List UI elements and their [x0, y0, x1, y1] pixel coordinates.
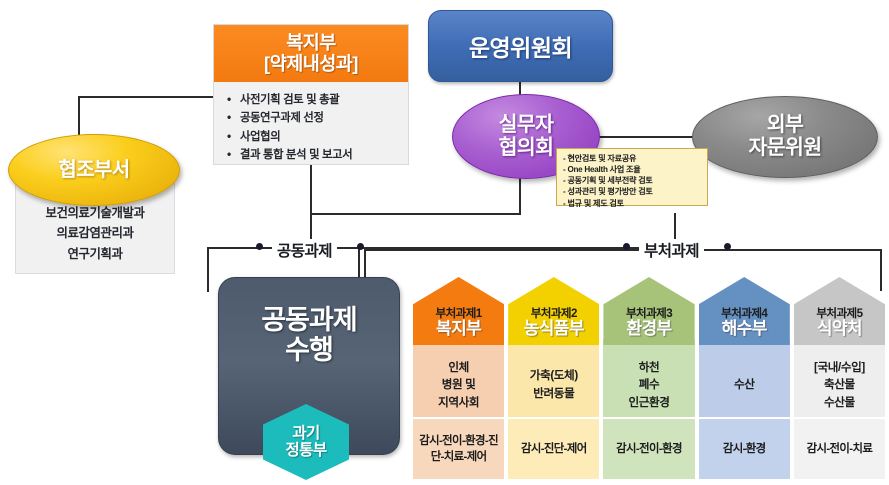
mohw-card-header: 복지부 [약제내성과] — [214, 25, 408, 82]
connector-worker-down — [519, 178, 521, 214]
department-name: 식약처 — [817, 320, 862, 339]
mohw-duty-item: 사업협의 — [227, 128, 400, 146]
department-scope-1: 인체 병원 및 지역사회 — [413, 339, 504, 417]
department-hexagon-1[interactable]: 부처과제1 복지부 — [413, 277, 504, 345]
department-hexagon-3[interactable]: 부처과제3 환경부 — [603, 277, 694, 345]
joint-task-line2: 수행 — [285, 335, 333, 365]
department-stages-1: 감시-전이-환경-진단-치료-제어 — [413, 419, 504, 479]
department-scope-line: 반려동물 — [533, 385, 574, 403]
department-hexagon-4[interactable]: 부처과제4 해수부 — [699, 277, 790, 345]
branch-label-dept-task: 부처과제 — [639, 239, 704, 261]
external-advisor-line1: 외부 — [767, 114, 804, 137]
department-column-1[interactable]: 인체 병원 및 지역사회 감시-전이-환경-진단-치료-제어 부처과제1 복지부 — [413, 277, 504, 479]
department-stages-text: 감시-환경 — [723, 441, 766, 457]
department-scope-line: 수산물 — [824, 394, 855, 412]
msit-line2: 정통부 — [286, 442, 327, 459]
department-stages-5: 감시-전이-치료 — [794, 419, 885, 479]
department-hexagon-5[interactable]: 부처과제5 식약처 — [794, 277, 885, 345]
department-name: 복지부 — [436, 320, 481, 339]
department-scope-line: 폐수 — [639, 376, 660, 394]
mohw-duty-item: 사전기획 검토 및 총괄 — [227, 91, 400, 109]
branch-dot-dept-left — [623, 243, 630, 250]
joint-task-line1: 공동과제 — [261, 305, 356, 335]
department-stages-text: 감시-전이-환경 — [616, 441, 682, 457]
department-scope-line: [국내/수입] — [814, 359, 865, 377]
department-stages-2: 감시-진단-제어 — [508, 419, 599, 479]
department-scope-line: 가축(도체) — [530, 367, 578, 385]
department-column-3[interactable]: 하천 폐수 인근환경 감시-전이-환경 부처과제3 환경부 — [603, 277, 694, 479]
department-name: 해수부 — [722, 320, 767, 339]
mohw-title-line2: [약제내성과] — [264, 54, 358, 75]
department-column-4[interactable]: 수산 감시-환경 부처과제4 해수부 — [699, 277, 790, 479]
worker-council-line1: 실무자 — [499, 114, 554, 137]
worker-council-line2: 협의회 — [499, 137, 554, 160]
connector-mohw-to-coop-h — [78, 96, 214, 98]
branch-label-joint-task: 공동과제 — [272, 239, 337, 261]
department-stages-text: 감시-전이-환경-진단-치료-제어 — [415, 433, 502, 465]
department-name: 농식품부 — [524, 320, 584, 339]
branch-dot-dept-right — [724, 243, 731, 250]
department-scope-line: 축산물 — [824, 376, 855, 394]
department-scope-line: 인근환경 — [628, 394, 669, 412]
steering-committee-node[interactable]: 운영위원회 — [428, 10, 613, 82]
department-scope-line: 하천 — [639, 359, 660, 377]
cooperating-dept-node[interactable]: 협조부서 — [8, 134, 180, 206]
mohw-duty-list: 사전기획 검토 및 총괄 공동연구과제 선정 사업협의 결과 통합 분석 및 보… — [214, 82, 408, 164]
connector-dept-bracket-h — [364, 249, 882, 251]
department-scope-3: 하천 폐수 인근환경 — [603, 339, 694, 417]
worker-council-notes: - 현안검토 및 자료공유 - One Health 사업 조율 - 공동기획 … — [556, 148, 708, 206]
msit-line1: 과기 — [292, 425, 319, 442]
department-stages-4: 감시-환경 — [699, 419, 790, 479]
worker-council-note-item: - One Health 사업 조율 — [563, 164, 702, 175]
department-scope-line: 지역사회 — [438, 394, 479, 412]
mohw-duty-item: 공동연구과제 선정 — [227, 109, 400, 127]
department-scope-5: [국내/수입] 축산물 수산물 — [794, 339, 885, 417]
branch-dot-joint-left — [256, 243, 263, 250]
mohw-duty-item: 결과 통합 분석 및 보고서 — [227, 146, 400, 164]
cooperating-dept-item: 연구기획과 — [68, 244, 123, 265]
connector-worker-to-advisor — [597, 136, 697, 138]
external-advisor-line2: 자문위원 — [748, 137, 821, 160]
department-scope-line: 수산 — [734, 376, 755, 394]
department-stages-text: 감시-전이-치료 — [807, 441, 873, 457]
department-task-row: 인체 병원 및 지역사회 감시-전이-환경-진단-치료-제어 부처과제1 복지부… — [413, 277, 885, 479]
worker-council-note-item: - 법규 및 제도 검토 — [563, 198, 702, 209]
department-column-2[interactable]: 가축(도체) 반려동물 감시-진단-제어 부처과제2 농식품부 — [508, 277, 599, 479]
connector-main-spine — [310, 213, 521, 215]
mohw-card[interactable]: 복지부 [약제내성과] 사전기획 검토 및 총괄 공동연구과제 선정 사업협의 … — [213, 24, 409, 165]
connector-joint-bracket-left — [207, 247, 209, 292]
worker-council-note-item: - 성과관리 및 평가방안 검토 — [563, 186, 702, 197]
branch-label-dept-text: 부처과제 — [644, 243, 699, 260]
department-scope-line: 인체 — [448, 359, 469, 377]
cooperating-dept-item: 의료감염관리과 — [57, 223, 134, 244]
branch-dot-joint-right — [357, 243, 364, 250]
department-stages-3: 감시-전이-환경 — [603, 419, 694, 479]
department-scope-2: 가축(도체) 반려동물 — [508, 339, 599, 417]
department-stages-text: 감시-진단-제어 — [521, 441, 587, 457]
steering-committee-label: 운영위원회 — [469, 29, 572, 63]
external-advisor-node[interactable]: 외부 자문위원 — [692, 96, 878, 178]
department-name: 환경부 — [626, 320, 671, 339]
department-column-5[interactable]: [국내/수입] 축산물 수산물 감시-전이-치료 부처과제5 식약처 — [794, 277, 885, 479]
cooperating-dept-title: 협조부서 — [58, 159, 129, 181]
branch-label-joint-text: 공동과제 — [277, 243, 332, 260]
department-scope-4: 수산 — [699, 339, 790, 417]
connector-joint-bracket-h — [207, 247, 273, 249]
worker-council-note-item: - 공동기획 및 세부전략 검토 — [563, 175, 702, 186]
department-hexagon-2[interactable]: 부처과제2 농식품부 — [508, 277, 599, 345]
worker-council-note-item: - 현안검토 및 자료공유 — [563, 153, 702, 164]
department-scope-line: 병원 및 — [442, 376, 476, 394]
diagram-canvas: 복지부 [약제내성과] 사전기획 검토 및 총괄 공동연구과제 선정 사업협의 … — [0, 0, 889, 485]
mohw-title-line1: 복지부 — [286, 33, 336, 54]
connector-mohw-down — [310, 165, 312, 214]
